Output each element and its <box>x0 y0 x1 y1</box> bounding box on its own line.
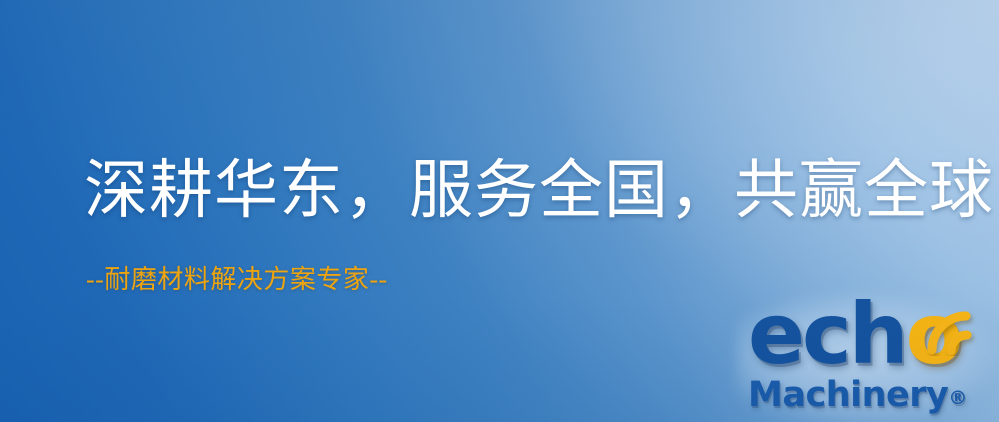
logo-tagline: Machinery® <box>748 376 967 417</box>
promotional-banner: 深耕华东，服务全国，共赢全球 --耐磨材料解决方案专家-- echo Machi… <box>0 0 999 422</box>
logo-tagline-text: Machinery <box>748 375 948 415</box>
banner-headline: 深耕华东，服务全国，共赢全球 <box>84 152 994 230</box>
logo-wordmark-h: h <box>849 285 906 383</box>
banner-subtitle: --耐磨材料解决方案专家-- <box>86 264 388 296</box>
company-logo[interactable]: echo Machinery® <box>744 296 996 420</box>
signal-waves-icon <box>926 294 996 356</box>
registered-trademark-icon: ® <box>948 387 967 409</box>
logo-wordmark-ec: ec <box>748 285 849 383</box>
